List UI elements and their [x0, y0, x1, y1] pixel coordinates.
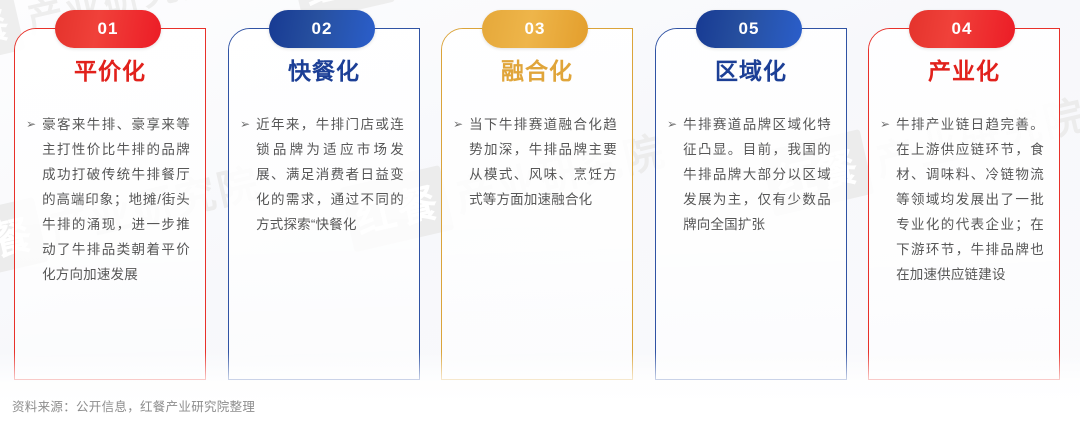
- source-note: 资料来源：公开信息，红餐产业研究院整理: [12, 396, 255, 415]
- card-body: ➢ 近年来，牛排门店或连锁品牌为适应市场发展、满足消费者日益变化的需求，通过不同…: [228, 112, 420, 237]
- bullet-arrow-icon: ➢: [667, 112, 677, 237]
- card-description: 牛排赛道品牌区域化特征凸显。目前，我国的牛排品牌大部分以区域发展为主，仅有少数品…: [683, 112, 831, 237]
- card-title: 区域化: [655, 52, 847, 86]
- bullet-arrow-icon: ➢: [453, 112, 463, 212]
- bullet-arrow-icon: ➢: [240, 112, 250, 237]
- card-description: 当下牛排赛道融合化趋势加深，牛排品牌主要从模式、风味、烹饪方式等方面加速融合化: [469, 112, 617, 212]
- card-description: 豪客来牛排、豪享来等主打性价比牛排的品牌成功打破传统牛排餐厅的高端印象；地摊/街…: [42, 112, 190, 287]
- card-title: 快餐化: [228, 52, 420, 86]
- card-description: 近年来，牛排门店或连锁品牌为适应市场发展、满足消费者日益变化的需求，通过不同的方…: [256, 112, 404, 237]
- card-body: ➢ 当下牛排赛道融合化趋势加深，牛排品牌主要从模式、风味、烹饪方式等方面加速融合…: [441, 112, 633, 212]
- card-number-badge: 04: [909, 10, 1015, 48]
- infographic-canvas: 红餐 产业研究院 红餐 产业研究院 红餐 产业研究院 红餐 产业研究院 红餐 产…: [0, 0, 1080, 422]
- bullet-arrow-icon: ➢: [26, 112, 36, 287]
- card-title: 融合化: [441, 52, 633, 86]
- card-body: ➢ 豪客来牛排、豪享来等主打性价比牛排的品牌成功打破传统牛排餐厅的高端印象；地摊…: [14, 112, 206, 287]
- card-number-badge: 02: [269, 10, 375, 48]
- card-title: 产业化: [868, 52, 1060, 86]
- card-number-badge: 05: [696, 10, 802, 48]
- card-number-badge: 03: [482, 10, 588, 48]
- card-body: ➢ 牛排产业链日趋完善。在上游供应链环节，食材、调味料、冷链物流等领域均发展出了…: [868, 112, 1060, 287]
- card-body: ➢ 牛排赛道品牌区域化特征凸显。目前，我国的牛排品牌大部分以区域发展为主，仅有少…: [655, 112, 847, 237]
- trend-card-group: 01 平价化 ➢ 豪客来牛排、豪享来等主打性价比牛排的品牌成功打破传统牛排餐厅的…: [0, 0, 1080, 422]
- bullet-arrow-icon: ➢: [880, 112, 890, 287]
- card-description: 牛排产业链日趋完善。在上游供应链环节，食材、调味料、冷链物流等领域均发展出了一批…: [896, 112, 1044, 287]
- card-number-badge: 01: [55, 10, 161, 48]
- card-title: 平价化: [14, 52, 206, 86]
